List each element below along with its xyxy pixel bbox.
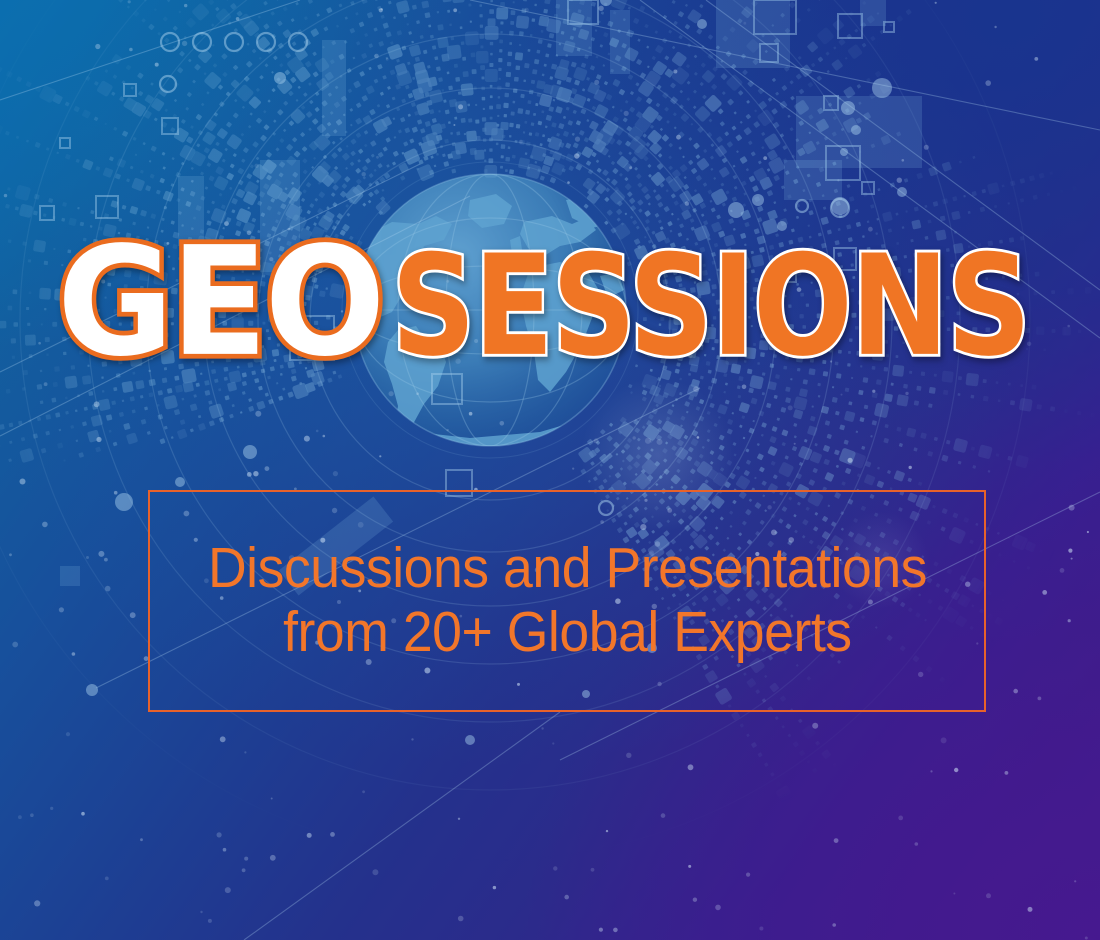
logo-word-geo: GEO — [57, 228, 382, 379]
banner-canvas: GEOSESSIONS Discussions and Presentation… — [0, 0, 1100, 940]
logo-word-sessions: SESSIONS — [392, 236, 1030, 375]
event-logo: GEOSESSIONS — [0, 228, 1100, 378]
subtitle-line-2: from 20+ Global Experts — [283, 601, 851, 665]
subtitle-line-1: Discussions and Presentations — [207, 537, 926, 601]
subtitle-box: Discussions and Presentations from 20+ G… — [148, 490, 986, 712]
lens-glow — [0, 0, 1100, 940]
